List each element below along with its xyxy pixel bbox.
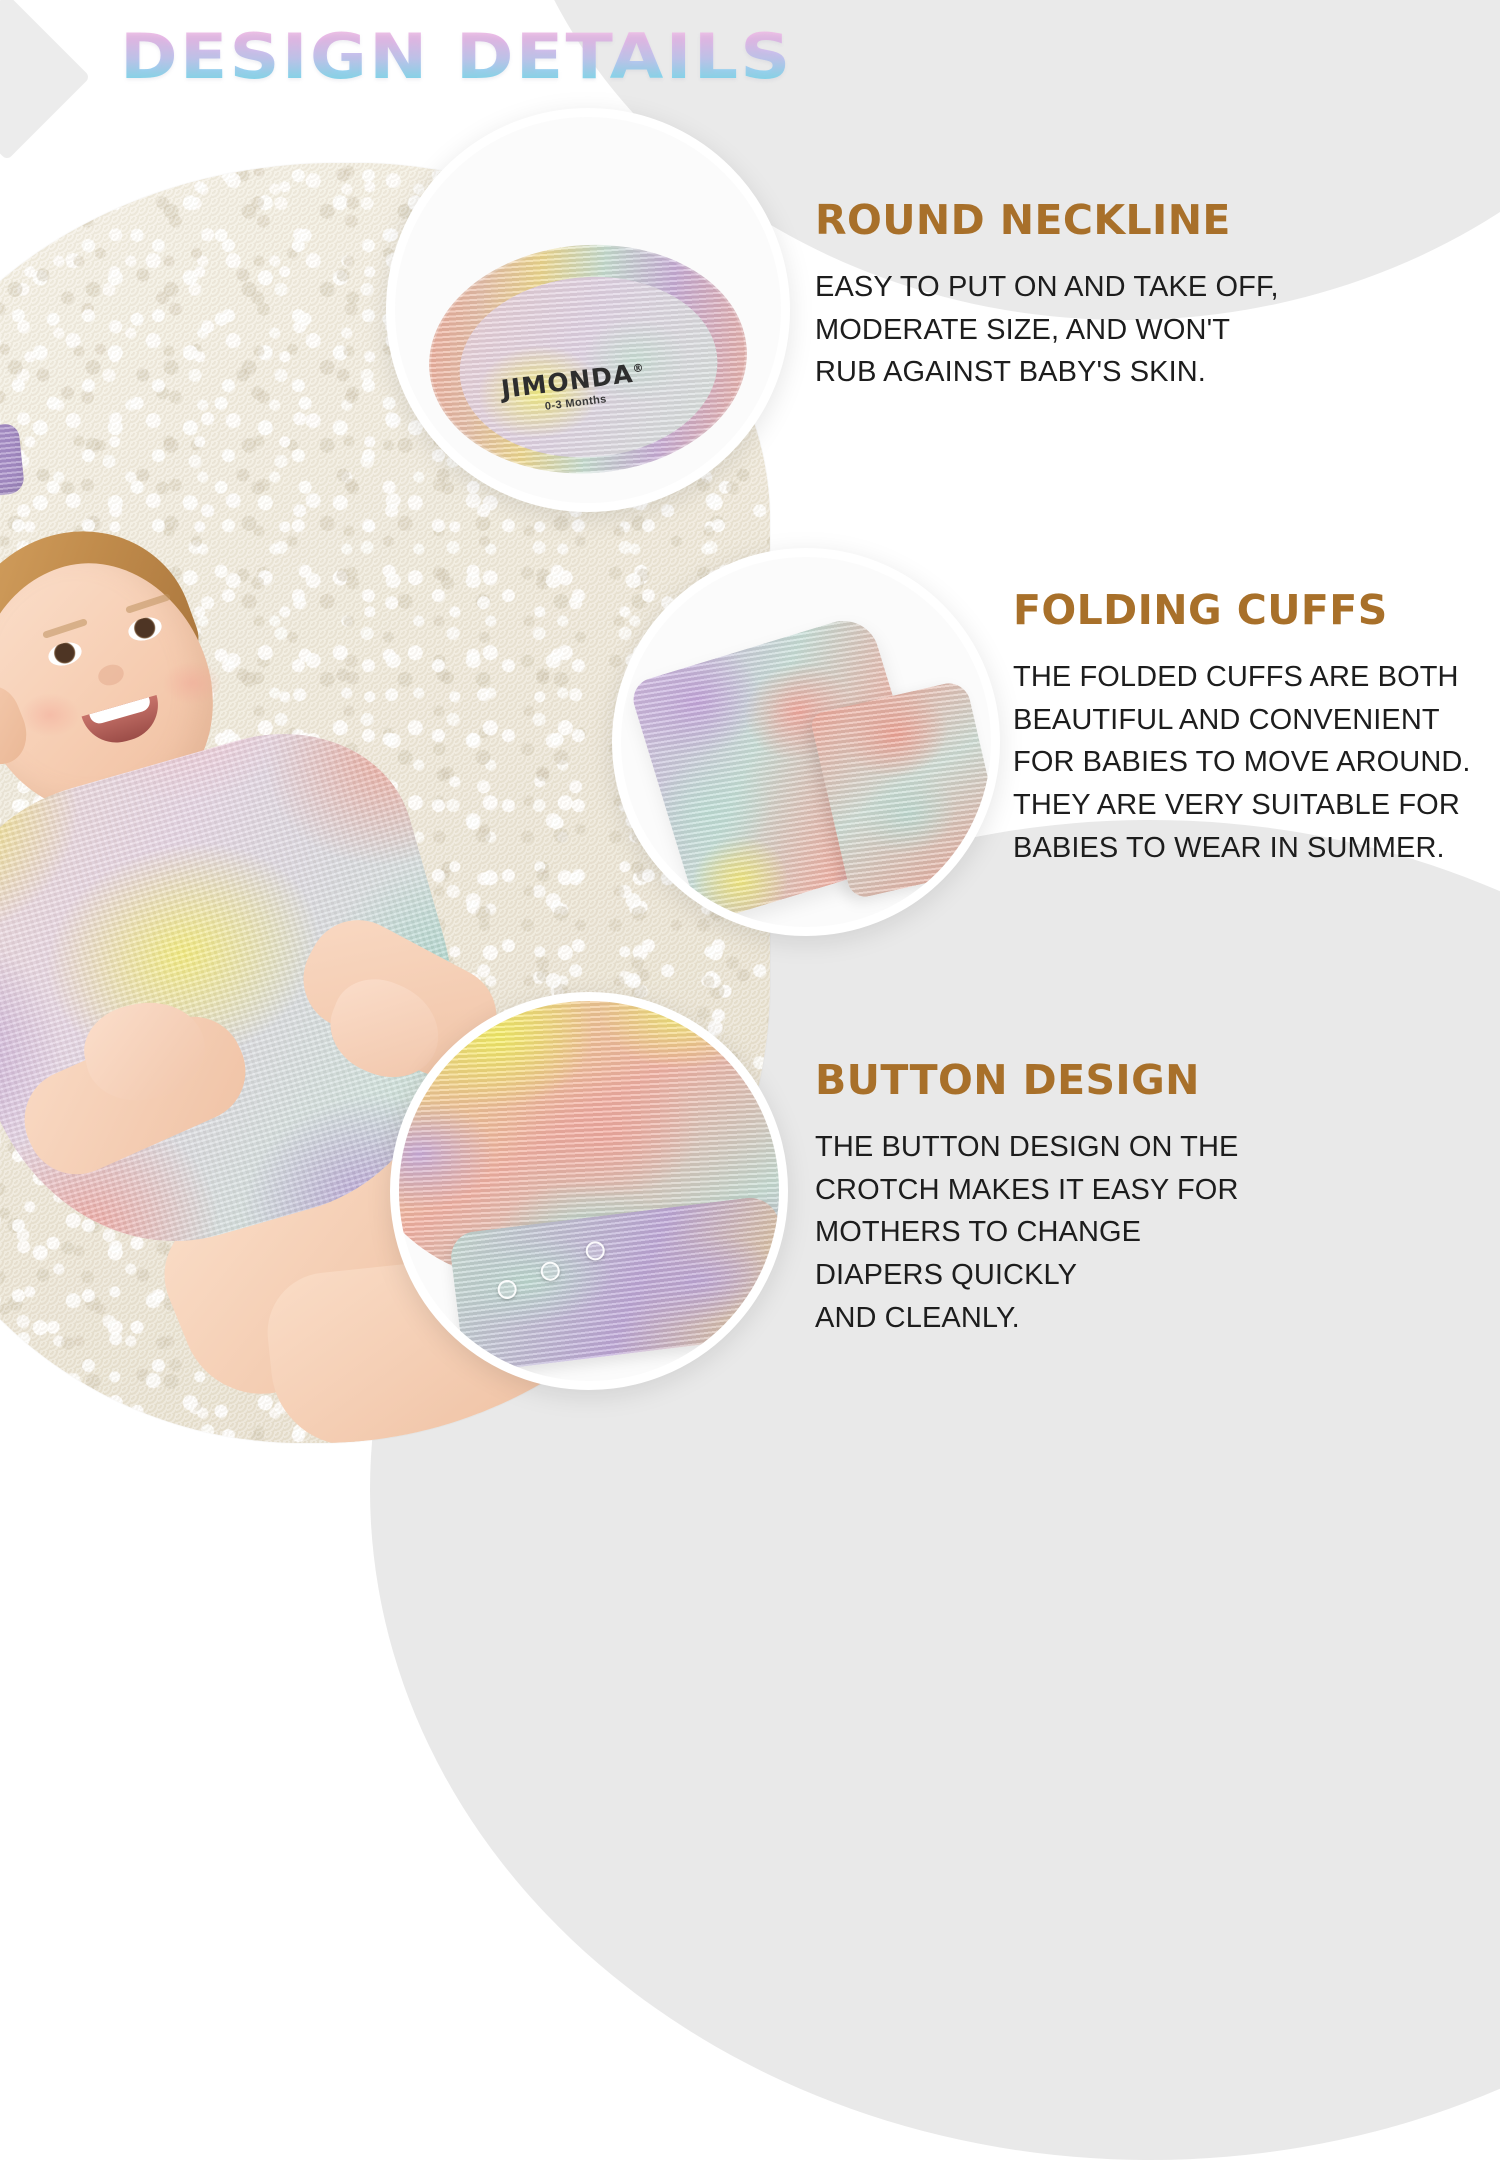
registered-mark: ® [632, 361, 645, 375]
feature-body: EASY TO PUT ON AND TAKE OFF, MODERATE SI… [815, 266, 1375, 394]
detail-circle-cuffs [612, 548, 1000, 936]
feature-block-neckline: ROUND NECKLINE EASY TO PUT ON AND TAKE O… [815, 196, 1375, 394]
cuff-garment [651, 605, 996, 922]
feature-body: THE BUTTON DESIGN ON THE CROTCH MAKES IT… [815, 1126, 1315, 1339]
feature-block-cuffs: FOLDING CUFFS THE FOLDED CUFFS ARE BOTH … [1013, 586, 1488, 869]
neckline-garment: JIMONDA® 0-3 Months [386, 217, 790, 512]
feature-line: AND CLEANLY. [815, 1302, 1020, 1334]
feature-line: THE BUTTON DESIGN ON THE [815, 1131, 1238, 1163]
diamond-shape-top-left [0, 0, 90, 160]
feature-block-button: BUTTON DESIGN THE BUTTON DESIGN ON THE C… [815, 1056, 1315, 1339]
feature-line: RUB AGAINST BABY'S SKIN. [815, 356, 1206, 388]
feature-body: THE FOLDED CUFFS ARE BOTH BEAUTIFUL AND … [1013, 656, 1488, 869]
feature-heading: ROUND NECKLINE [815, 196, 1375, 244]
baby-cheek-right [162, 661, 222, 705]
feature-line: THE FOLDED CUFFS ARE BOTH [1013, 661, 1459, 693]
feature-line: CROTCH MAKES IT EASY FOR [815, 1174, 1239, 1206]
feature-line: DIAPERS QUICKLY [815, 1259, 1077, 1291]
detail-circle-neckline: JIMONDA® 0-3 Months [386, 108, 790, 512]
feature-heading: BUTTON DESIGN [815, 1056, 1315, 1104]
feature-line: BABIES TO WEAR IN SUMMER. [1013, 832, 1445, 864]
feature-line: MOTHERS TO CHANGE [815, 1216, 1141, 1248]
feature-line: THEY ARE VERY SUITABLE FOR [1013, 789, 1460, 821]
page-title: DESIGN DETAILS [120, 26, 792, 88]
feature-line: MODERATE SIZE, AND WON'T [815, 314, 1230, 346]
feature-line: BEAUTIFUL AND CONVENIENT [1013, 704, 1440, 736]
feature-heading: FOLDING CUFFS [1013, 586, 1488, 634]
baby-cheek-left [20, 693, 80, 737]
button-garment [390, 992, 788, 1390]
feature-line: FOR BABIES TO MOVE AROUND. [1013, 746, 1471, 778]
detail-circle-button [390, 992, 788, 1390]
romper-sleeve-cuff [0, 423, 25, 509]
feature-line: EASY TO PUT ON AND TAKE OFF, [815, 271, 1279, 303]
